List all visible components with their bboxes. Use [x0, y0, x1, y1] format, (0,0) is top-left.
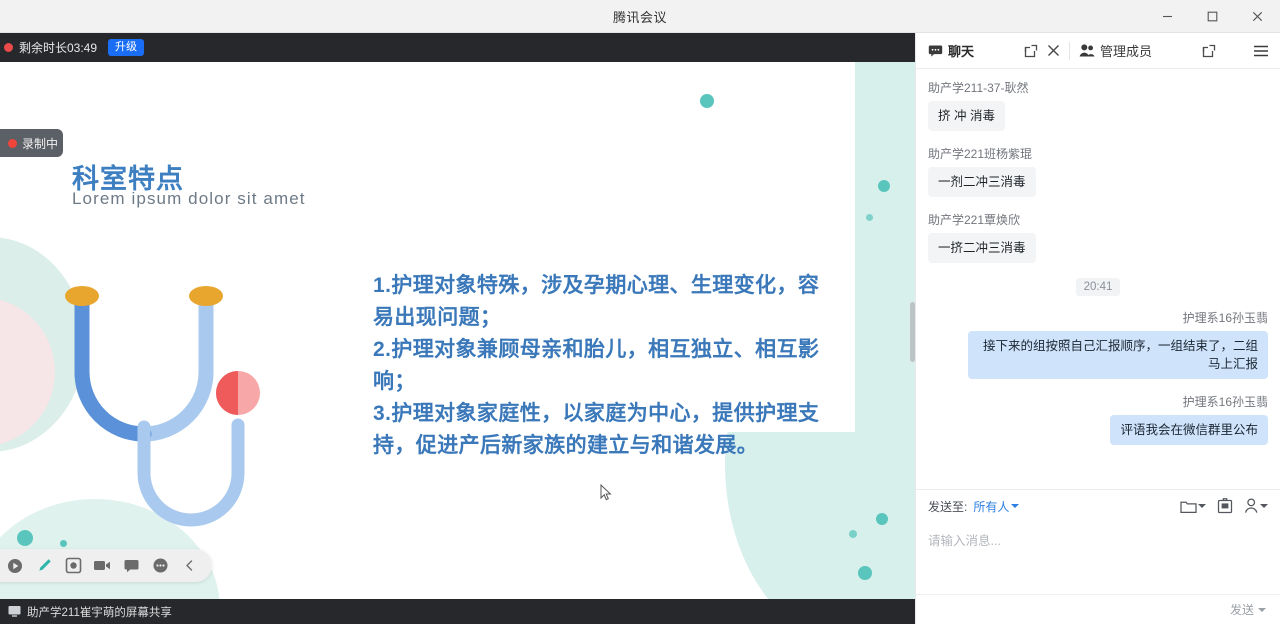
close-icon	[1252, 11, 1263, 22]
chat-footer: 发送至: 所有人	[916, 489, 1280, 624]
send-to-label: 发送至:	[928, 498, 967, 515]
chat-message: 助产学221覃焕欣 一挤二冲三消毒	[928, 211, 1268, 263]
focus-icon[interactable]	[60, 553, 86, 579]
minimize-icon	[1162, 11, 1173, 22]
recording-indicator: 录制中	[0, 129, 63, 157]
chat-popout-icon[interactable]	[1020, 40, 1042, 62]
maximize-button[interactable]	[1190, 0, 1235, 33]
floating-toolbar[interactable]	[0, 549, 212, 582]
chat-panel: 聊天 管理成员	[915, 33, 1280, 624]
presentation-slide: 科室特点 Lorem ipsum dolor sit amet 1.护理对象特殊…	[0, 62, 915, 599]
window-title: 腾讯会议	[613, 7, 667, 26]
recording-label: 录制中	[22, 135, 58, 152]
steth-eartip-left	[65, 286, 99, 306]
mouse-cursor	[600, 484, 612, 502]
send-row: 发送	[916, 594, 1280, 624]
send-to-dropdown[interactable]: 所有人	[973, 498, 1019, 515]
chat-panel-header: 聊天 管理成员	[916, 33, 1280, 69]
message-sender: 助产学221班杨紫琨	[928, 145, 1268, 162]
decor-dot-2	[878, 180, 890, 192]
chat-message: 助产学211-37-耿然 挤 冲 消毒	[928, 79, 1268, 131]
decor-dot-7	[17, 530, 33, 546]
chat-timestamp-separator: 20:41	[928, 277, 1268, 295]
chevron-down-icon	[1198, 504, 1206, 508]
message-bubble[interactable]: 一剂二冲三消毒	[928, 167, 1036, 197]
chat-bubble-icon	[928, 43, 943, 58]
slide-line-1: 1.护理对象特殊，涉及孕期心理、生理变化，容易出现问题；	[373, 270, 823, 334]
play-icon[interactable]	[2, 553, 28, 579]
folder-icon[interactable]	[1180, 499, 1206, 514]
message-bubble[interactable]: 一挤二冲三消毒	[928, 233, 1036, 263]
pen-icon[interactable]	[31, 553, 57, 579]
tab-chat-label: 聊天	[948, 41, 974, 60]
upgrade-button[interactable]: 升级	[108, 39, 144, 57]
tab-chat[interactable]: 聊天	[924, 33, 978, 69]
title-bar: 腾讯会议	[0, 0, 1280, 33]
camera-icon[interactable]	[89, 553, 115, 579]
tab-members-label: 管理成员	[1100, 41, 1152, 60]
tab-members[interactable]: 管理成员	[1075, 33, 1156, 69]
decor-dot-5	[849, 530, 857, 538]
message-sender: 助产学221覃焕欣	[928, 211, 1268, 228]
recording-dot-icon	[8, 139, 17, 148]
slide-line-3: 3.护理对象家庭性，以家庭为中心，提供护理支持，促进产后新家族的建立与和谐发展。	[373, 398, 823, 462]
chevron-down-icon	[1260, 504, 1268, 508]
message-sender: 护理系16孙玉翡	[928, 309, 1268, 326]
send-to-row: 发送至: 所有人	[916, 490, 1280, 522]
window-controls	[1145, 0, 1280, 33]
send-button[interactable]: 发送	[1230, 601, 1254, 618]
slide-line-2: 2.护理对象兼顾母亲和胎儿，相互独立、相互影响；	[373, 334, 823, 398]
chat-timestamp: 20:41	[1076, 278, 1121, 296]
meeting-top-bar: 剩余时长03:49 升级	[0, 33, 915, 62]
close-button[interactable]	[1235, 0, 1280, 33]
message-sender: 助产学211-37-耿然	[928, 79, 1268, 96]
members-icon	[1079, 43, 1095, 58]
more-icon[interactable]	[147, 553, 173, 579]
decor-dot-6	[858, 566, 872, 580]
tencent-meeting-window: 腾讯会议 剩余时长03:49 升级	[0, 0, 1280, 624]
maximize-icon	[1207, 11, 1218, 22]
message-bubble[interactable]: 评语我会在微信群里公布	[1110, 415, 1268, 445]
message-bubble[interactable]: 挤 冲 消毒	[928, 101, 1005, 131]
shared-screen-stage[interactable]: 科室特点 Lorem ipsum dolor sit amet 1.护理对象特殊…	[0, 62, 915, 599]
slide-subtitle: Lorem ipsum dolor sit amet	[72, 189, 306, 209]
decor-dot-3	[866, 214, 873, 221]
decor-dot-1	[700, 94, 714, 108]
decor-dot-4	[876, 513, 888, 525]
send-to-value: 所有人	[973, 498, 1009, 515]
slide-body-text: 1.护理对象特殊，涉及孕期心理、生理变化，容易出现问题； 2.护理对象兼顾母亲和…	[373, 270, 823, 462]
chat-message: 助产学221班杨紫琨 一剂二冲三消毒	[928, 145, 1268, 197]
chevron-down-icon[interactable]	[1258, 608, 1266, 612]
chat-close-icon[interactable]	[1042, 40, 1064, 62]
panel-menu-icon[interactable]	[1250, 40, 1272, 62]
message-input[interactable]: 请输入消息...	[916, 522, 1280, 594]
message-bubble[interactable]: 接下来的组按照自己汇报顺序，一组结束了，二组马上汇报	[968, 331, 1268, 379]
steth-eartip-right	[189, 286, 223, 306]
collapse-icon[interactable]	[176, 553, 202, 579]
stethoscope-illustration	[64, 277, 324, 542]
members-popout-icon[interactable]	[1198, 40, 1220, 62]
chat-message-self: 护理系16孙玉翡 评语我会在微信群里公布	[928, 393, 1268, 445]
footer-icon-group	[1180, 498, 1268, 514]
message-sender: 护理系16孙玉翡	[928, 393, 1268, 410]
chevron-down-icon	[1011, 504, 1019, 508]
screen-share-label: 助产学211崔宇萌的屏幕共享	[27, 604, 172, 620]
chat-message-self: 护理系16孙玉翡 接下来的组按照自己汇报顺序，一组结束了，二组马上汇报	[928, 309, 1268, 379]
header-divider	[1069, 42, 1070, 60]
bottom-status-bar: 助产学211崔宇萌的屏幕共享	[0, 599, 915, 624]
announcement-icon[interactable]	[1217, 498, 1233, 514]
person-icon[interactable]	[1244, 498, 1268, 514]
screen-share-icon	[8, 605, 21, 618]
chat-icon[interactable]	[118, 553, 144, 579]
minimize-button[interactable]	[1145, 0, 1190, 33]
chat-message-list[interactable]: 助产学211-37-耿然 挤 冲 消毒 助产学221班杨紫琨 一剂二冲三消毒 助…	[916, 69, 1280, 489]
recording-dot-icon	[4, 43, 13, 52]
remaining-time-label: 剩余时长03:49	[19, 39, 97, 56]
